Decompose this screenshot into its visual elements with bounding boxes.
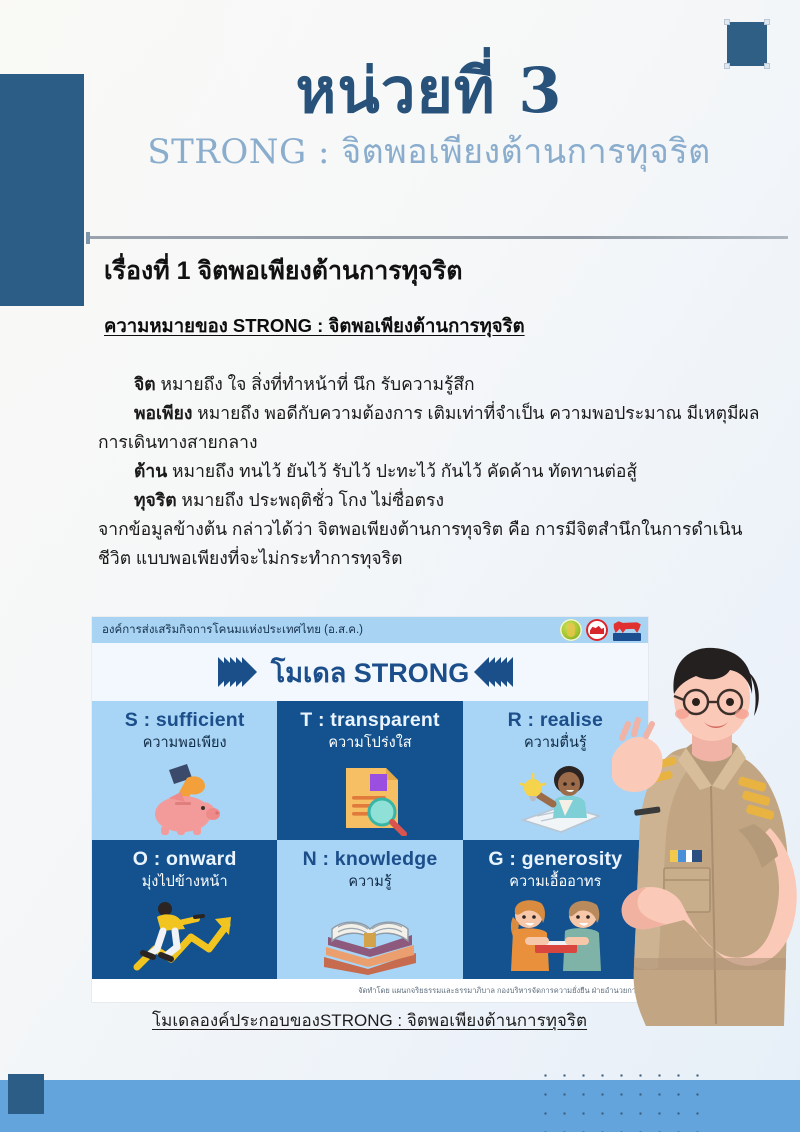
decor-top-right-square[interactable]	[727, 22, 767, 66]
body-term: พอเพียง	[134, 403, 192, 423]
resize-handle-bottom-right[interactable]	[764, 63, 770, 69]
page-subtitle: STRONG : จิตพอเพียงต้านการทุจริต	[84, 133, 774, 172]
strong-cell-thai: ความโปร่งใส	[277, 733, 462, 753]
decor-left-bar	[0, 74, 84, 306]
decor-dot-grid	[532, 1060, 708, 1132]
strong-cell-english: N : knowledge	[277, 848, 462, 871]
infographic-footer: จัดทำโดย แผนกจริยธรรมและธรรมาภิบาล กองบร…	[92, 979, 648, 1002]
strong-cell-o: O : onwardมุ่งไปข้างหน้า	[92, 840, 277, 979]
chevrons-right-group	[227, 657, 257, 687]
resize-handle-top-right[interactable]	[764, 19, 770, 25]
organization-name: องค์การส่งเสริมกิจการโคนมแห่งประเทศไทย (…	[92, 621, 363, 639]
infographic-title-row: โมเดล STRONG	[92, 643, 648, 701]
strong-letter-grid: S : sufficientความพอเพียง T : transparen…	[92, 701, 648, 979]
strong-cell-english: T : transparent	[277, 709, 462, 732]
official-character-illustration	[612, 636, 800, 1028]
piggy-bank-icon	[92, 758, 277, 836]
definition-heading: ความหมายของ STRONG : จิตพอเพียงต้านการทุ…	[104, 312, 525, 341]
body-term: จิต	[134, 374, 156, 394]
footer-credit: จัดทำโดย แผนกจริยธรรมและธรรมาภิบาล กองบร…	[358, 985, 640, 997]
body-text: จิต หมายถึง ใจ สิ่งที่ทำหน้าที่ นึก รับค…	[98, 370, 770, 573]
decor-bottom-left-square	[8, 1074, 44, 1114]
body-term: ทุจริต	[134, 490, 177, 510]
chevron-right-icon	[242, 657, 257, 687]
thai-denmark-seal-logo	[586, 619, 608, 641]
strong-cell-thai: ความพอเพียง	[92, 733, 277, 753]
strong-model-infographic: องค์การส่งเสริมกิจการโคนมแห่งประเทศไทย (…	[92, 617, 648, 1002]
infographic-title: โมเดล STRONG	[271, 651, 470, 694]
chevron-left-icon	[498, 657, 513, 687]
open-book-icon	[277, 897, 462, 975]
figure-caption: โมเดลองค์ประกอบของSTRONG : จิตพอเพียงต้า…	[152, 1007, 587, 1034]
resize-handle-top-left[interactable]	[724, 19, 730, 25]
chevrons-left-group	[483, 657, 513, 687]
body-paragraph: พอเพียง หมายถึง พอดีกับความต้องการ เติมเ…	[98, 399, 770, 457]
resize-handle-bottom-left[interactable]	[724, 63, 730, 69]
title-divider-marker	[86, 232, 90, 244]
section-heading: เรื่องที่ 1 จิตพอเพียงต้านการทุจริต	[104, 251, 462, 291]
strong-cell-english: S : sufficient	[92, 709, 277, 732]
title-block: หน่วยที่ 3 STRONG : จิตพอเพียงต้านการทุจ…	[84, 58, 774, 172]
body-term: ต้าน	[134, 461, 167, 481]
strong-cell-n: N : knowledgeความรู้	[277, 840, 462, 979]
body-paragraph: จากข้อมูลข้างต้น กล่าวได้ว่า จิตพอเพียงต…	[98, 515, 770, 573]
document-magnifier-icon	[277, 758, 462, 836]
strong-cell-t: T : transparentความโปร่งใส	[277, 701, 462, 840]
strong-cell-thai: ความรู้	[277, 872, 462, 892]
strong-cell-thai: มุ่งไปข้างหน้า	[92, 872, 277, 892]
title-divider	[88, 236, 788, 239]
body-paragraph: ต้าน หมายถึง ทนไว้ ยันไว้ รับไว้ ปะทะไว้…	[98, 457, 770, 486]
body-paragraph: จิต หมายถึง ใจ สิ่งที่ทำหน้าที่ นึก รับค…	[98, 370, 770, 399]
runner-arrow-icon	[92, 897, 277, 975]
page-title: หน่วยที่ 3	[84, 58, 774, 123]
dpo-emblem-logo	[560, 619, 582, 641]
body-paragraph: ทุจริต หมายถึง ประพฤติชั่ว โกง ไม่ซื่อตร…	[98, 486, 770, 515]
strong-cell-s: S : sufficientความพอเพียง	[92, 701, 277, 840]
strong-cell-english: O : onward	[92, 848, 277, 871]
infographic-org-bar: องค์การส่งเสริมกิจการโคนมแห่งประเทศไทย (…	[92, 617, 648, 643]
slide-canvas: หน่วยที่ 3 STRONG : จิตพอเพียงต้านการทุจ…	[0, 0, 800, 1132]
